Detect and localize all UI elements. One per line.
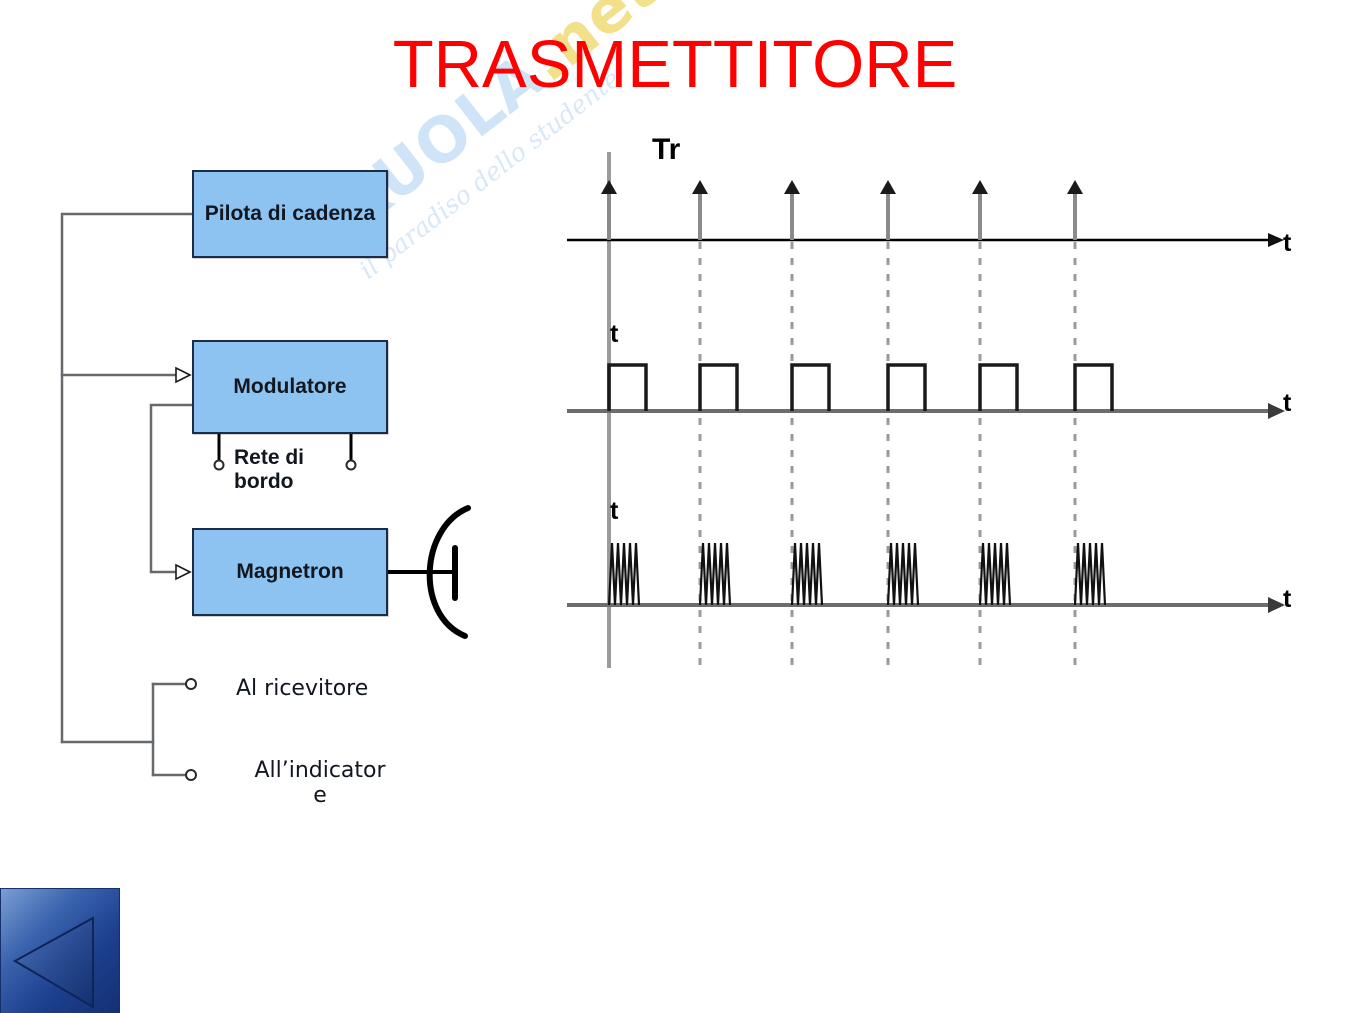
- rf-burst-3: [792, 543, 822, 605]
- impulse-arrowheads: [601, 180, 1083, 194]
- block-modulatore[interactable]: Modulatore: [192, 340, 388, 434]
- label-time-axis-2: t: [1283, 389, 1291, 418]
- label-all-indicatore: All’indicator e: [235, 758, 405, 809]
- impulse-arrowhead-3: [784, 180, 800, 194]
- impulse-arrowhead-4: [880, 180, 896, 194]
- impulse-arrowhead-5: [972, 180, 988, 194]
- rf-burst-1: [609, 543, 639, 605]
- impulse-arrowhead-2: [692, 180, 708, 194]
- rf-burst-2: [700, 543, 730, 605]
- previous-slide-button[interactable]: [0, 888, 120, 1013]
- label-vertical-axis-1: t: [610, 320, 618, 349]
- slide-canvas: SKUOLA.net il paradiso dello studente TR…: [0, 0, 1350, 1013]
- modulator-pulse-4: [888, 365, 925, 411]
- rf-burst-4: [888, 543, 918, 605]
- label-time-axis-1: t: [1283, 229, 1291, 258]
- label-al-ricevitore: Al ricevitore: [236, 676, 368, 701]
- block-pilota-label: Pilota di cadenza: [205, 202, 375, 226]
- row-modulator-pulses: [567, 365, 1285, 419]
- block-pilota-di-cadenza[interactable]: Pilota di cadenza: [192, 170, 388, 258]
- impulse-arrowhead-1: [601, 180, 617, 194]
- label-time-axis-3: t: [1283, 585, 1291, 614]
- block-magnetron[interactable]: Magnetron: [192, 528, 388, 616]
- label-vertical-axis-2: t: [610, 497, 618, 526]
- modulator-pulse-shapes: [609, 365, 1112, 411]
- rf-burst-shapes: [609, 543, 1105, 605]
- label-period-tr: Tr: [652, 133, 680, 167]
- block-modulatore-label: Modulatore: [233, 375, 346, 399]
- triangle-left-icon: [1, 889, 121, 1013]
- rf-burst-6: [1075, 543, 1105, 605]
- block-magnetron-label: Magnetron: [236, 560, 343, 584]
- time-axis-1-arrowhead: [1268, 233, 1284, 247]
- modulator-pulse-5: [980, 365, 1017, 411]
- page-title: TRASMETTITORE: [0, 26, 1350, 103]
- modulator-pulse-2: [700, 365, 737, 411]
- label-rete-di-bordo: Rete di bordo: [234, 446, 384, 494]
- row-rf-bursts: [567, 543, 1285, 613]
- impulse-arrowhead-6: [1067, 180, 1083, 194]
- modulator-pulse-1: [609, 365, 646, 411]
- row-trigger-impulses: [567, 180, 1284, 247]
- modulator-pulse-3: [792, 365, 829, 411]
- modulator-pulse-6: [1075, 365, 1112, 411]
- rf-burst-5: [980, 543, 1010, 605]
- impulse-stems: [609, 188, 1075, 240]
